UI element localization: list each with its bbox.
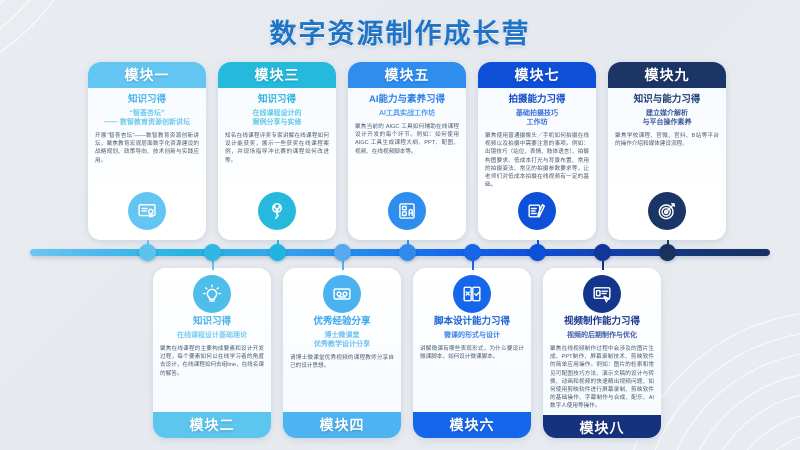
module-title: 脚本设计能力习得: [434, 316, 510, 328]
timeline-dot: [529, 244, 546, 261]
module-card[interactable]: 模块七拍摄能力习得基础拍摄技巧工作坊聚焦使用普通摄像头／手机如何拍摄在线视频以及…: [478, 62, 596, 240]
module-subtitle: AI工具实战工作坊: [379, 109, 435, 118]
page-title: 数字资源制作成长营: [270, 12, 531, 51]
module-subtitle: “智荟杏坛”—— 数智教育资源创新讲坛: [104, 109, 190, 127]
module-card[interactable]: 优秀经验分享博士微课堂优秀教学设计分享请博士微课堂优秀视频的课程教师分享自己的设…: [283, 268, 401, 438]
module-badge: 模块六: [413, 412, 531, 438]
module-title: 知识习得: [258, 94, 296, 106]
camera-shoot-icon: [518, 192, 556, 230]
module-body: 脚本设计能力习得微课的形式与设计讲解微课有哪些表现形式，为什么要设计微课脚本，如…: [413, 268, 531, 412]
module-title: 视频制作能力习得: [564, 316, 640, 328]
module-description: 请博士微课堂优秀视频的课程教师分享自己的设计思想。: [290, 354, 394, 370]
module-badge: 模块一: [88, 62, 206, 88]
module-title: 拍摄能力习得: [508, 94, 565, 106]
certificate-badge-icon: [128, 192, 166, 230]
ai-chip-board-icon: [388, 192, 426, 230]
module-card[interactable]: 知识习得在线课程设计基础理论聚焦在线课程的主要构成要素和设计开发过程，每个要素如…: [153, 268, 271, 438]
page-title-wrap: 数字资源制作成长营: [0, 12, 800, 51]
module-title: AI能力与素养习得: [369, 94, 445, 106]
module-description: 开展“智荟杏坛”——数智教育资源创新讲坛，聚焦教育宏观层面数字化资源建设的战略规…: [95, 132, 199, 165]
module-description: 聚焦在线视频制作过程中会涉及的图片生成、PPT制作、屏幕录制技术、剪映软件的简单…: [550, 345, 654, 411]
lightbulb-icon: [193, 275, 231, 313]
module-subtitle: 在线课程设计的案例分享与实修: [253, 109, 302, 127]
module-description: 讲解微课有哪些表现形式，为什么要设计微课脚本，如何设计微课脚本。: [420, 345, 524, 361]
module-description: 聚焦使用普通摄像头／手机如何拍摄在线视频以及拍摄中需要注意的事项。例如：出镜技巧…: [485, 132, 589, 189]
timeline-dot: [204, 244, 221, 261]
infographic-canvas: 数字资源制作成长营 模块一知识习得“智荟杏坛”—— 数智教育资源创新讲坛开展“智…: [0, 0, 800, 450]
timeline-dot: [659, 244, 676, 261]
module-subtitle: 博士微课堂优秀教学设计分享: [314, 331, 370, 349]
timeline-dot: [334, 244, 351, 261]
module-badge: 模块五: [348, 62, 466, 88]
video-edit-cursor-icon: [583, 275, 621, 313]
module-body: 拍摄能力习得基础拍摄技巧工作坊聚焦使用普通摄像头／手机如何拍摄在线视频以及拍摄中…: [478, 88, 596, 240]
script-storyboard-icon: [453, 275, 491, 313]
module-description: 聚焦在线课程的主要构成要素和设计开发过程，每个要素如何以在线学习者的角度去设计，…: [160, 345, 264, 378]
module-body: AI能力与素养习得AI工具实战工作坊聚焦当前的 AIGC 工具如何辅助在线课程设…: [348, 88, 466, 240]
module-card[interactable]: 模块五AI能力与素养习得AI工具实战工作坊聚焦当前的 AIGC 工具如何辅助在线…: [348, 62, 466, 240]
module-card[interactable]: 脚本设计能力习得微课的形式与设计讲解微课有哪些表现形式，为什么要设计微课脚本，如…: [413, 268, 531, 438]
timeline-dot: [594, 244, 611, 261]
module-badge: 模块八: [543, 415, 661, 438]
module-card[interactable]: 模块一知识习得“智荟杏坛”—— 数智教育资源创新讲坛开展“智荟杏坛”——数智教育…: [88, 62, 206, 240]
module-body: 知识习得在线课程设计基础理论聚焦在线课程的主要构成要素和设计开发过程，每个要素如…: [153, 268, 271, 412]
module-badge: 模块三: [218, 62, 336, 88]
timeline-dot: [464, 244, 481, 261]
module-card[interactable]: 模块九知识与能力习得建立媒介解析与平台操作素养聚焦学校课程、官微、官抖、B站等平…: [608, 62, 726, 240]
module-title: 知识习得: [193, 316, 231, 328]
module-badge: 模块七: [478, 62, 596, 88]
module-badge: 模块九: [608, 62, 726, 88]
timeline-dot: [399, 244, 416, 261]
module-subtitle: 视频的后期制作与优化: [567, 331, 637, 340]
module-badge: 模块四: [283, 412, 401, 438]
module-title: 知识习得: [128, 94, 166, 106]
module-subtitle: 微课的形式与设计: [444, 331, 500, 340]
module-card[interactable]: 模块三知识习得在线课程设计的案例分享与实修知名在线课程评奖专家讲解在线课程如何设…: [218, 62, 336, 240]
module-description: 聚焦当前的 AIGC 工具如何辅助在线课程设计开发的每个环节。例如：如何使用 A…: [355, 123, 459, 156]
module-body: 视频制作能力习得视频的后期制作与优化聚焦在线视频制作过程中会涉及的图片生成、PP…: [543, 268, 661, 415]
module-body: 知识与能力习得建立媒介解析与平台操作素养聚焦学校课程、官微、官抖、B站等平台的操…: [608, 88, 726, 240]
module-subtitle: 基础拍摄技巧工作坊: [516, 109, 558, 127]
module-description: 知名在线课程评奖专家讲解在线课程如何设计能获奖，展示一些获奖在线课程案例，并现场…: [225, 132, 329, 165]
module-card[interactable]: 视频制作能力习得视频的后期制作与优化聚焦在线视频制作过程中会涉及的图片生成、PP…: [543, 268, 661, 438]
module-title: 优秀经验分享: [313, 316, 370, 328]
module-badge: 模块二: [153, 412, 271, 438]
module-description: 聚焦学校课程、官微、官抖、B站等平台的操作介绍和媒体建设流程。: [615, 132, 719, 148]
timeline-dot: [139, 244, 156, 261]
video-cassette-icon: [323, 275, 361, 313]
module-title: 知识与能力习得: [634, 94, 701, 106]
module-body: 知识习得在线课程设计的案例分享与实修知名在线课程评奖专家讲解在线课程如何设计能获…: [218, 88, 336, 240]
brain-network-icon: [258, 192, 296, 230]
target-dart-icon: [648, 192, 686, 230]
module-body: 优秀经验分享博士微课堂优秀教学设计分享请博士微课堂优秀视频的课程教师分享自己的设…: [283, 268, 401, 412]
module-subtitle: 在线课程设计基础理论: [177, 331, 247, 340]
module-body: 知识习得“智荟杏坛”—— 数智教育资源创新讲坛开展“智荟杏坛”——数智教育资源创…: [88, 88, 206, 240]
timeline-dot: [269, 244, 286, 261]
module-subtitle: 建立媒介解析与平台操作素养: [643, 109, 692, 127]
